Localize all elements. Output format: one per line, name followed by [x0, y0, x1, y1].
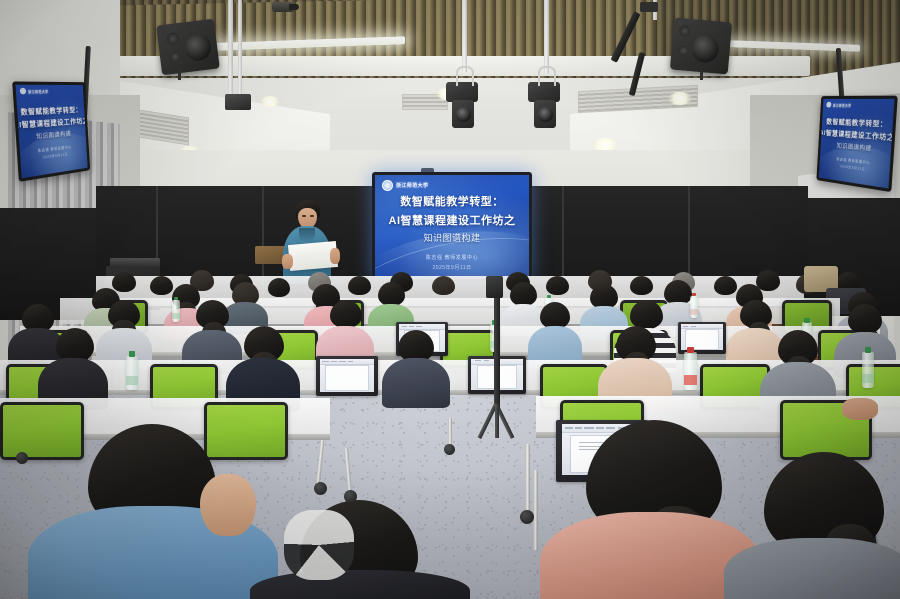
- desk-leg-right-1: [525, 444, 530, 514]
- speaker-right-stem: [700, 70, 703, 80]
- ceiling-sensor-lens: [289, 4, 299, 10]
- suspension-pole-left: [228, 0, 233, 96]
- water-bottle-6[interactable]: [126, 356, 138, 390]
- patterned-bag: [284, 510, 354, 580]
- slide-title-line3: 知识图谱构建: [423, 231, 480, 244]
- audience-head-r2-5: [378, 282, 405, 306]
- audience-head-r3-8: [848, 304, 882, 334]
- right-tv-date: 2025年9月11日: [840, 163, 865, 171]
- water-bottle-8[interactable]: [862, 352, 874, 388]
- stage-light-center: [452, 100, 474, 128]
- audience-head-r3-5: [540, 302, 570, 329]
- foreground-body-center-left: [250, 570, 470, 599]
- audience-head-f9: [432, 276, 455, 295]
- audience-head-f5: [268, 278, 290, 297]
- desk-leg-right-2: [533, 470, 538, 550]
- left-tv-title2: AI智慧课程建设工作坊之: [13, 116, 89, 131]
- left-tv-date: 2025年9月11日: [43, 151, 68, 159]
- right-tv-title3: 知识图谱构建: [836, 141, 872, 153]
- laptop-r3-2[interactable]: [678, 322, 726, 354]
- audience-head-r3-4: [330, 300, 362, 328]
- water-bottle-1[interactable]: [172, 300, 180, 322]
- water-bottle-3[interactable]: [690, 296, 698, 318]
- presenter-eye-left: [302, 215, 306, 217]
- suspension-pole-center: [462, 0, 467, 72]
- audience-head-f11: [546, 276, 569, 295]
- presenter-hand-right: [330, 248, 340, 264]
- audience-head-r3-6: [630, 300, 663, 329]
- presenter-hand-left: [282, 254, 293, 269]
- cable-loop-center: [456, 66, 474, 86]
- audience-head-f1: [112, 272, 136, 292]
- slide-presenter-line: 陈志强 教师发展中心: [426, 254, 478, 261]
- camera-body: [486, 276, 503, 298]
- attendee-arm-right: [842, 398, 878, 420]
- left-wall-monitor[interactable]: 浙江师范大学 数智赋能教学转型： AI智慧课程建设工作坊之 知识图谱构建 陈志强…: [12, 81, 90, 182]
- ceiling-speaker-left: [156, 19, 220, 76]
- audience-head-r4-1: [56, 328, 94, 362]
- foreground-left-arm: [200, 474, 256, 536]
- projection-screen[interactable]: 浙江师范大学 数智赋能教学转型： AI智慧课程建设工作坊之 知识图谱构建 陈志强…: [372, 172, 532, 282]
- audience-head-r2-6: [510, 282, 537, 306]
- presenter-eye-right: [310, 215, 314, 217]
- downlight-3: [668, 92, 692, 105]
- suspension-pole-left-2: [238, 0, 242, 100]
- audience-head-f13: [630, 276, 653, 295]
- right-tv-title1: 数智赋能教学转型：: [826, 117, 888, 130]
- foreground-body-far-right-gray: [724, 538, 900, 599]
- slide-title-line2: AI智慧课程建设工作坊之: [389, 212, 516, 228]
- chair-fg-2[interactable]: [204, 402, 288, 460]
- chair-caster-left: [16, 452, 28, 464]
- desk-caster-right: [520, 510, 534, 524]
- audience-body-r4-3: [382, 358, 450, 408]
- slide-title-line1: 数智赋能教学转型：: [400, 193, 504, 209]
- chair-caster-2: [344, 490, 357, 503]
- light-mount-left: [225, 94, 251, 110]
- suspension-pole-right: [544, 0, 549, 74]
- tripod-leg-3: [495, 404, 499, 438]
- ceiling-rod-bracket: [640, 2, 658, 12]
- right-tv-title2: AI智慧课程建设工作坊之: [819, 128, 895, 143]
- laptop-r4-1[interactable]: [316, 356, 378, 396]
- right-wall-monitor[interactable]: 浙江师范大学 数智赋能教学转型： AI智慧课程建设工作坊之 知识图谱构建 陈志强…: [816, 96, 897, 193]
- downlight-8: [260, 96, 280, 107]
- chair-caster-1: [314, 482, 327, 495]
- slide-date-line: 2025年9月11日: [432, 264, 471, 271]
- audience-head-f2: [150, 276, 173, 295]
- ceiling-speaker-right: [670, 18, 732, 75]
- audience-head-f7: [348, 276, 371, 295]
- presenter-collar: [299, 228, 315, 242]
- left-tv-title3: 知识图谱构建: [36, 129, 72, 141]
- stage-light-right: [534, 100, 556, 128]
- water-bottle-7[interactable]: [684, 352, 697, 390]
- cable-loop-right: [538, 66, 556, 86]
- tripod-column: [494, 288, 500, 410]
- lecture-hall-photo: 浙江师范大学 数智赋能教学转型： AI智慧课程建设工作坊之 知识图谱构建 陈志强…: [0, 0, 900, 599]
- speaker-left-stem: [178, 70, 181, 80]
- desk-caster-center: [444, 444, 455, 455]
- chair-fg-1[interactable]: [0, 402, 84, 460]
- left-tv-title1: 数智赋能教学转型：: [20, 105, 82, 118]
- audience-head-f15: [714, 276, 737, 295]
- podium-top: [110, 258, 160, 268]
